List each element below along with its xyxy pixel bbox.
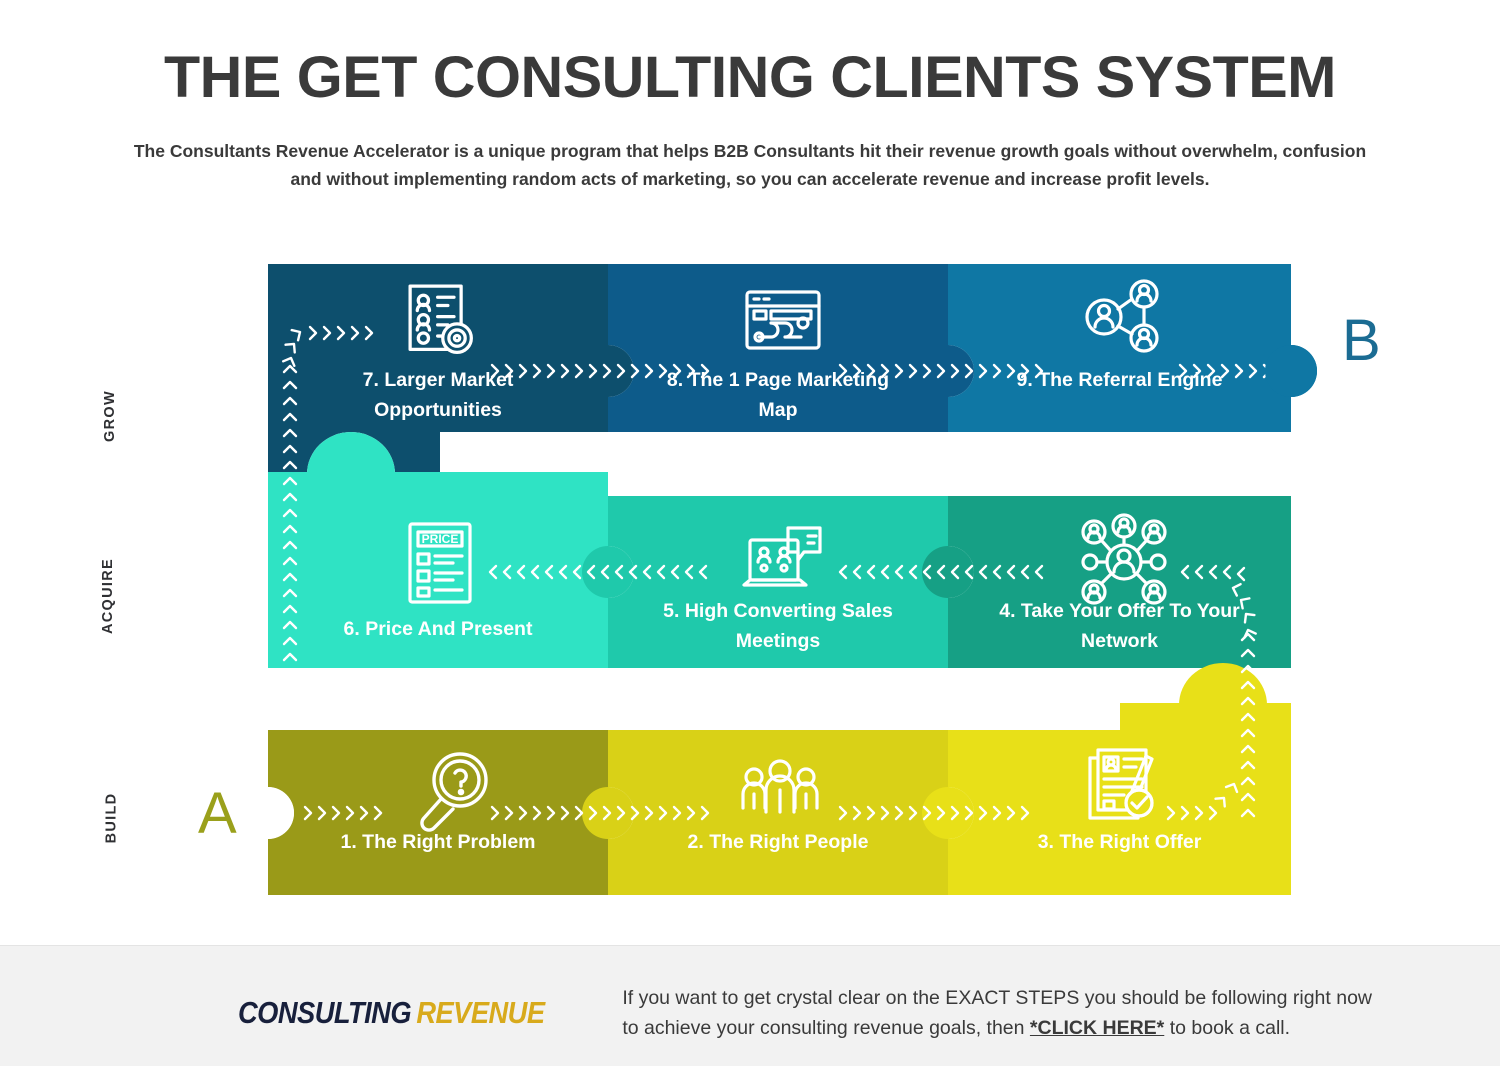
panel-step-5[interactable] xyxy=(608,496,948,668)
system-diagram: PRICE xyxy=(0,250,1500,915)
cta-text: If you want to get crystal clear on the … xyxy=(622,983,1372,1043)
panel-step-6[interactable] xyxy=(268,496,608,668)
page-subtitle: The Consultants Revenue Accelerator is a… xyxy=(125,137,1375,194)
puzzle-socket-start xyxy=(242,787,294,839)
cta-line2-post: to book a call. xyxy=(1164,1017,1290,1039)
row-label-grow: GROW xyxy=(102,390,118,442)
panel-step-1[interactable] xyxy=(268,730,608,895)
brand-logo-word1: CONSULTING xyxy=(238,995,411,1030)
svg-text:PRICE: PRICE xyxy=(422,532,459,546)
puzzle-tab-end-circle xyxy=(1265,345,1317,397)
puzzle-tab-build-1 xyxy=(582,787,634,839)
bottom-strip xyxy=(0,1066,1500,1080)
teal-ledge xyxy=(268,472,608,498)
row-label-acquire: ACQUIRE xyxy=(100,558,116,634)
yellow-ledge xyxy=(1120,703,1291,731)
cta-line2-pre: to achieve your consulting revenue goals… xyxy=(622,1017,1030,1039)
row-label-build: BUILD xyxy=(103,793,119,844)
footer-bar: CONSULTINGREVENUE If you want to get cry… xyxy=(0,945,1500,1080)
brand-logo: CONSULTINGREVENUE xyxy=(238,995,545,1031)
puzzle-tab-acq-1 xyxy=(582,546,634,598)
page-title: THE GET CONSULTING CLIENTS SYSTEM xyxy=(0,48,1500,109)
cta-line1: If you want to get crystal clear on the … xyxy=(622,987,1372,1009)
gap-lower xyxy=(0,668,1120,730)
end-marker-b: B xyxy=(1342,312,1381,370)
start-marker-a: A xyxy=(198,785,237,843)
click-here-link[interactable]: *CLICK HERE* xyxy=(1030,1017,1164,1039)
brand-logo-word2: REVENUE xyxy=(416,995,544,1030)
puzzle-bump-yellow-up xyxy=(1179,663,1267,705)
panel-step-2[interactable] xyxy=(608,730,948,895)
page-header: THE GET CONSULTING CLIENTS SYSTEM The Co… xyxy=(0,0,1500,194)
